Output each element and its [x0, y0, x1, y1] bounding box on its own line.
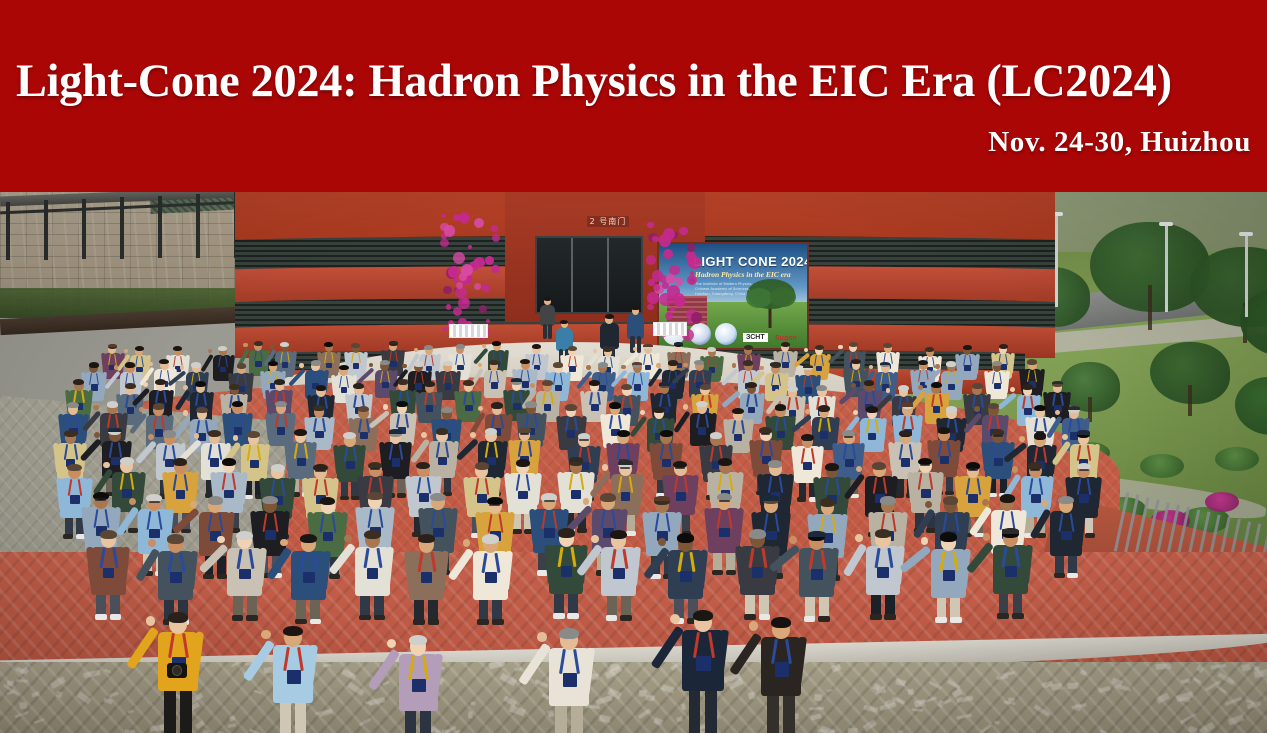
header-banner: Light-Cone 2024: Hadron Physics in the E… [0, 0, 1267, 192]
person-hand [805, 409, 810, 414]
person-hair [946, 406, 958, 412]
flower-cluster [646, 255, 656, 265]
person-hair [943, 496, 958, 505]
person-hand [1010, 387, 1015, 392]
person-shoe [870, 614, 882, 620]
person-shoe [1054, 573, 1065, 578]
person-hair [718, 458, 732, 466]
person-hair [653, 407, 665, 413]
white-planter [653, 322, 687, 336]
name-badge [518, 491, 528, 500]
cap [108, 428, 121, 433]
person-hair [565, 404, 577, 410]
person-hair [475, 462, 489, 470]
person-shoe [620, 615, 632, 621]
person-hair [409, 635, 428, 645]
person-hair [64, 430, 77, 437]
person-hair [925, 347, 934, 352]
glasses-icon [719, 500, 730, 502]
person-hair [621, 384, 632, 390]
person-hair [825, 463, 839, 471]
poster-sponsor-secondary: ЗСНТ [743, 333, 768, 342]
person-hair [262, 496, 277, 505]
name-badge [412, 679, 426, 693]
person-shoe [818, 616, 830, 622]
name-badge [392, 458, 401, 466]
person-hand [982, 499, 989, 506]
person-hair [163, 430, 176, 437]
name-badge [250, 460, 259, 468]
cap [763, 495, 779, 501]
flower-cluster [446, 304, 451, 309]
glasses-icon [675, 467, 685, 469]
name-badge [341, 387, 348, 393]
flower-cluster [459, 212, 471, 224]
person-shoe [567, 613, 579, 619]
glasses-icon [1030, 469, 1040, 471]
person-hair [1058, 496, 1073, 505]
person-hand [602, 464, 608, 470]
flower-cluster [448, 266, 460, 278]
person-hair [268, 361, 278, 366]
person-shoe [217, 574, 228, 579]
person-hair [418, 534, 435, 543]
group-photo: 2 号南门 LIGHT CONE 2024 Hadron Physics in … [0, 192, 1267, 733]
person-legs [543, 324, 547, 339]
person-shoe [128, 528, 138, 533]
person-hand [94, 432, 100, 438]
name-badge [433, 528, 444, 538]
person-shoe [181, 529, 191, 534]
person-legs [637, 336, 642, 353]
person-hand [93, 405, 98, 410]
person-hair [525, 401, 537, 407]
person-shoe [203, 574, 214, 579]
person-hair [222, 458, 236, 466]
name-badge [176, 490, 186, 499]
person-hair [743, 360, 753, 365]
person-hair [631, 306, 639, 311]
person-hair [559, 628, 578, 639]
person-hand [233, 435, 239, 441]
person-shoe [232, 615, 244, 621]
person-shoe [246, 615, 258, 621]
cap [511, 378, 522, 382]
poster-subtitle: Hadron Physics in the EIC era [695, 270, 791, 279]
name-badge [994, 383, 1001, 389]
person-hair [600, 493, 615, 502]
person-hand [583, 498, 590, 505]
person-hair [436, 428, 449, 435]
conference-banner-page: Light-Cone 2024: Hadron Physics in the E… [0, 0, 1267, 733]
name-badge [820, 431, 828, 438]
person-hair [489, 360, 499, 365]
person-hair [558, 528, 575, 537]
person-hair [931, 382, 942, 388]
person-shoe [95, 614, 107, 620]
person-hair [849, 342, 858, 347]
glasses-icon [315, 470, 325, 472]
flower-cluster [652, 270, 663, 281]
name-badge [1061, 531, 1072, 541]
person-hair [274, 379, 285, 385]
name-badge [775, 662, 789, 676]
name-badge [255, 361, 261, 367]
railing-post [120, 197, 124, 259]
name-badge [277, 427, 285, 434]
name-badge [303, 572, 315, 583]
person-hair [351, 343, 360, 348]
person-hair [313, 405, 325, 411]
person-shoe [110, 614, 122, 620]
glasses-icon [1079, 469, 1089, 471]
person-legs [180, 686, 191, 733]
person-hand [103, 462, 109, 468]
person-shoe [1012, 613, 1024, 619]
person-shoe [577, 528, 587, 533]
railing-post [44, 200, 48, 259]
person-hair [155, 379, 166, 385]
person-hair [353, 383, 364, 389]
glasses-icon [370, 468, 380, 470]
cap [659, 382, 670, 386]
name-badge [297, 458, 306, 466]
person-hair [236, 531, 253, 540]
person-shoe [744, 614, 756, 620]
name-badge [811, 569, 823, 580]
person-hand [683, 363, 687, 367]
event-date-location: Nov. 24-30, Huizhou [988, 125, 1251, 159]
flower-cluster [647, 222, 654, 229]
person-hand [530, 383, 535, 388]
name-badge [621, 492, 631, 501]
cap [1002, 528, 1019, 534]
cap [1052, 381, 1063, 385]
person-hair [275, 401, 287, 407]
person-hair [918, 360, 928, 365]
person-hand [369, 363, 373, 367]
person-hair [864, 380, 875, 386]
glasses-icon [544, 500, 555, 502]
person-hair [696, 401, 708, 407]
name-badge [415, 383, 422, 389]
name-badge [816, 366, 822, 372]
lamp-post [1165, 222, 1168, 312]
person-hair [542, 380, 553, 386]
person-hand [935, 364, 939, 368]
page-title: Light-Cone 2024: Hadron Physics in the E… [16, 55, 1237, 107]
person-shoe [413, 619, 425, 625]
person-hair [173, 458, 187, 466]
person-hair [441, 407, 453, 413]
flower-cluster [474, 283, 480, 289]
person-hair [898, 385, 909, 391]
flower-cluster [453, 252, 465, 264]
name-badge [426, 405, 434, 412]
flower-cluster [688, 256, 701, 269]
person-hair [707, 347, 716, 352]
person-shoe [1085, 533, 1095, 538]
railing-post [196, 194, 200, 258]
name-badge [680, 571, 692, 582]
person-hand [775, 389, 780, 394]
name-badge [544, 404, 552, 411]
person-shoe [295, 619, 307, 625]
white-planter [449, 324, 487, 338]
name-badge [127, 407, 135, 414]
person-hair [768, 460, 782, 468]
flower-cluster [652, 236, 658, 242]
person-hand [190, 501, 197, 508]
person-hair [938, 427, 951, 434]
name-badge [921, 489, 931, 498]
name-badge [877, 567, 889, 578]
person-hand [683, 404, 688, 409]
person-hand [414, 348, 418, 352]
name-badge [943, 570, 955, 581]
person-hair [610, 530, 627, 539]
person-hair [553, 362, 563, 367]
name-badge [1000, 364, 1006, 370]
name-badge [265, 530, 276, 540]
name-badge [719, 528, 730, 538]
person-hair [300, 534, 317, 543]
shrub [1215, 447, 1259, 471]
person-hand [853, 410, 858, 415]
glasses-icon [149, 501, 160, 503]
person-hair [73, 379, 84, 385]
flower-cluster [462, 298, 468, 304]
person-hair [668, 360, 678, 365]
person-hair [67, 464, 81, 472]
person-hand [591, 535, 599, 543]
person-hair [173, 346, 182, 351]
person-hand [463, 539, 471, 547]
cap [808, 531, 825, 537]
cap [770, 362, 780, 366]
glasses-icon [95, 498, 106, 500]
name-badge [561, 566, 573, 577]
person-hair [617, 430, 630, 437]
person-hand [670, 614, 680, 624]
name-badge [968, 494, 978, 503]
lamp-post [1055, 212, 1058, 307]
person-hair [218, 346, 227, 351]
name-badge [239, 569, 251, 580]
person-hand [217, 536, 225, 544]
name-badge [149, 529, 160, 539]
person-hand [148, 434, 154, 440]
person-hand [838, 345, 842, 349]
person-hair [89, 362, 99, 367]
person-shoe [626, 531, 636, 536]
person-hair [946, 361, 956, 366]
person-hair [560, 320, 568, 324]
lamp-head [1239, 232, 1253, 236]
cap [654, 496, 670, 502]
person-shoe [895, 493, 904, 497]
person-hand [299, 363, 303, 367]
person-hair [568, 346, 577, 351]
name-badge [103, 568, 115, 579]
person-hair [430, 493, 445, 502]
person-hair [120, 457, 134, 465]
person-shoe [553, 613, 565, 619]
glasses-icon [901, 435, 910, 437]
name-badge [234, 427, 242, 434]
person-hair [254, 341, 263, 346]
person-hair [988, 403, 1000, 409]
person-shoe [804, 616, 816, 622]
person-hair [1034, 432, 1047, 439]
person-shoe [950, 617, 962, 623]
camera-lens-icon [172, 665, 183, 676]
name-badge [485, 572, 497, 583]
person-shoe [359, 615, 371, 621]
glasses-icon [920, 464, 930, 466]
tree-trunk [1188, 385, 1192, 416]
person-hair [677, 533, 694, 542]
name-badge [346, 461, 355, 469]
person-hair [1000, 494, 1015, 503]
person-legs [548, 324, 552, 339]
person-shoe [329, 574, 340, 579]
glasses-icon [620, 467, 630, 469]
cap [632, 362, 642, 366]
person-hair [456, 344, 465, 349]
person-shoe [945, 491, 954, 495]
person-hair [744, 345, 753, 350]
person-hair [316, 385, 327, 391]
person-hair [125, 362, 135, 367]
person-hair [153, 403, 165, 409]
person-hair [196, 407, 208, 413]
person-hand [421, 432, 427, 438]
person-hair [339, 365, 349, 370]
person-hand [478, 406, 483, 411]
person-hand [586, 365, 590, 369]
flower-cluster [440, 239, 449, 248]
name-badge [445, 383, 452, 389]
person-hair [609, 402, 621, 408]
flower-cluster [647, 292, 658, 303]
person-hair [1034, 405, 1046, 411]
name-badge [210, 458, 219, 466]
person-hair [398, 379, 409, 385]
person-hand [621, 365, 625, 369]
name-badge [569, 366, 575, 372]
cap [1077, 430, 1090, 435]
person-hair [749, 529, 766, 538]
person-hair [963, 345, 972, 350]
flower-cluster [443, 286, 451, 294]
person-hair [875, 529, 892, 538]
person-hair [280, 342, 289, 347]
cap [618, 460, 633, 465]
flower-cluster [675, 298, 684, 307]
person-hair [598, 362, 608, 367]
person-hair [424, 381, 435, 387]
person-hair [1027, 359, 1037, 364]
person-hair [247, 431, 260, 438]
person-shoe [606, 615, 618, 621]
name-badge [360, 432, 368, 439]
person-hair [851, 359, 861, 364]
person-hand [925, 501, 932, 508]
person-hair [232, 401, 244, 407]
person-legs [571, 701, 582, 733]
person-hair [237, 363, 247, 368]
glasses-icon [844, 436, 853, 438]
person-shoe [884, 614, 896, 620]
person-hand [921, 537, 929, 545]
name-badge [948, 384, 955, 390]
person-hand [143, 382, 148, 387]
tree-trunk [1148, 285, 1152, 330]
person-hair [775, 404, 787, 410]
poster-meta: The Institute of Modern Physics, Chinese… [695, 282, 753, 297]
lamp-post [1245, 232, 1248, 317]
person-hair [191, 362, 201, 367]
name-badge [933, 406, 941, 413]
person-hand [1019, 436, 1025, 442]
person-hair [367, 492, 382, 501]
name-badge [805, 387, 812, 393]
railing-post [6, 202, 10, 260]
person-hair [880, 496, 895, 505]
cap [569, 457, 584, 462]
person-shoe [712, 570, 723, 575]
flower-cluster [491, 225, 498, 232]
flower-cluster [665, 312, 673, 320]
person-shoe [477, 619, 489, 625]
name-badge [563, 673, 577, 687]
name-badge [282, 362, 288, 368]
name-badge [1031, 494, 1041, 503]
person-hair [414, 361, 424, 366]
person-legs [767, 691, 778, 733]
person-shoe [935, 617, 947, 623]
lamp-head [1159, 222, 1173, 226]
name-badge [353, 363, 359, 369]
glasses-icon [579, 439, 588, 441]
flower-cluster [670, 307, 675, 312]
person-hair [605, 314, 614, 319]
person-shoe [797, 497, 806, 501]
flower-cluster [453, 307, 462, 316]
person-hand [656, 363, 660, 367]
name-badge [421, 572, 433, 583]
flowering-shrub [1205, 492, 1239, 512]
person-legs [555, 701, 566, 733]
glasses-icon [761, 433, 770, 435]
name-badge [748, 407, 756, 414]
poster-title: LIGHT CONE 2024 [693, 254, 809, 269]
person-hair [358, 406, 370, 412]
person-hair [746, 382, 757, 388]
person-hair [660, 430, 673, 437]
person-hair [283, 626, 302, 637]
name-badge [315, 431, 323, 438]
name-badge [522, 381, 529, 387]
person-hair [781, 342, 790, 347]
flower-cluster [482, 284, 490, 292]
person-arm-raised [201, 353, 214, 371]
person-torso [600, 323, 619, 349]
person-legs [164, 686, 175, 733]
name-badge [868, 433, 876, 440]
person-hand [732, 363, 736, 367]
